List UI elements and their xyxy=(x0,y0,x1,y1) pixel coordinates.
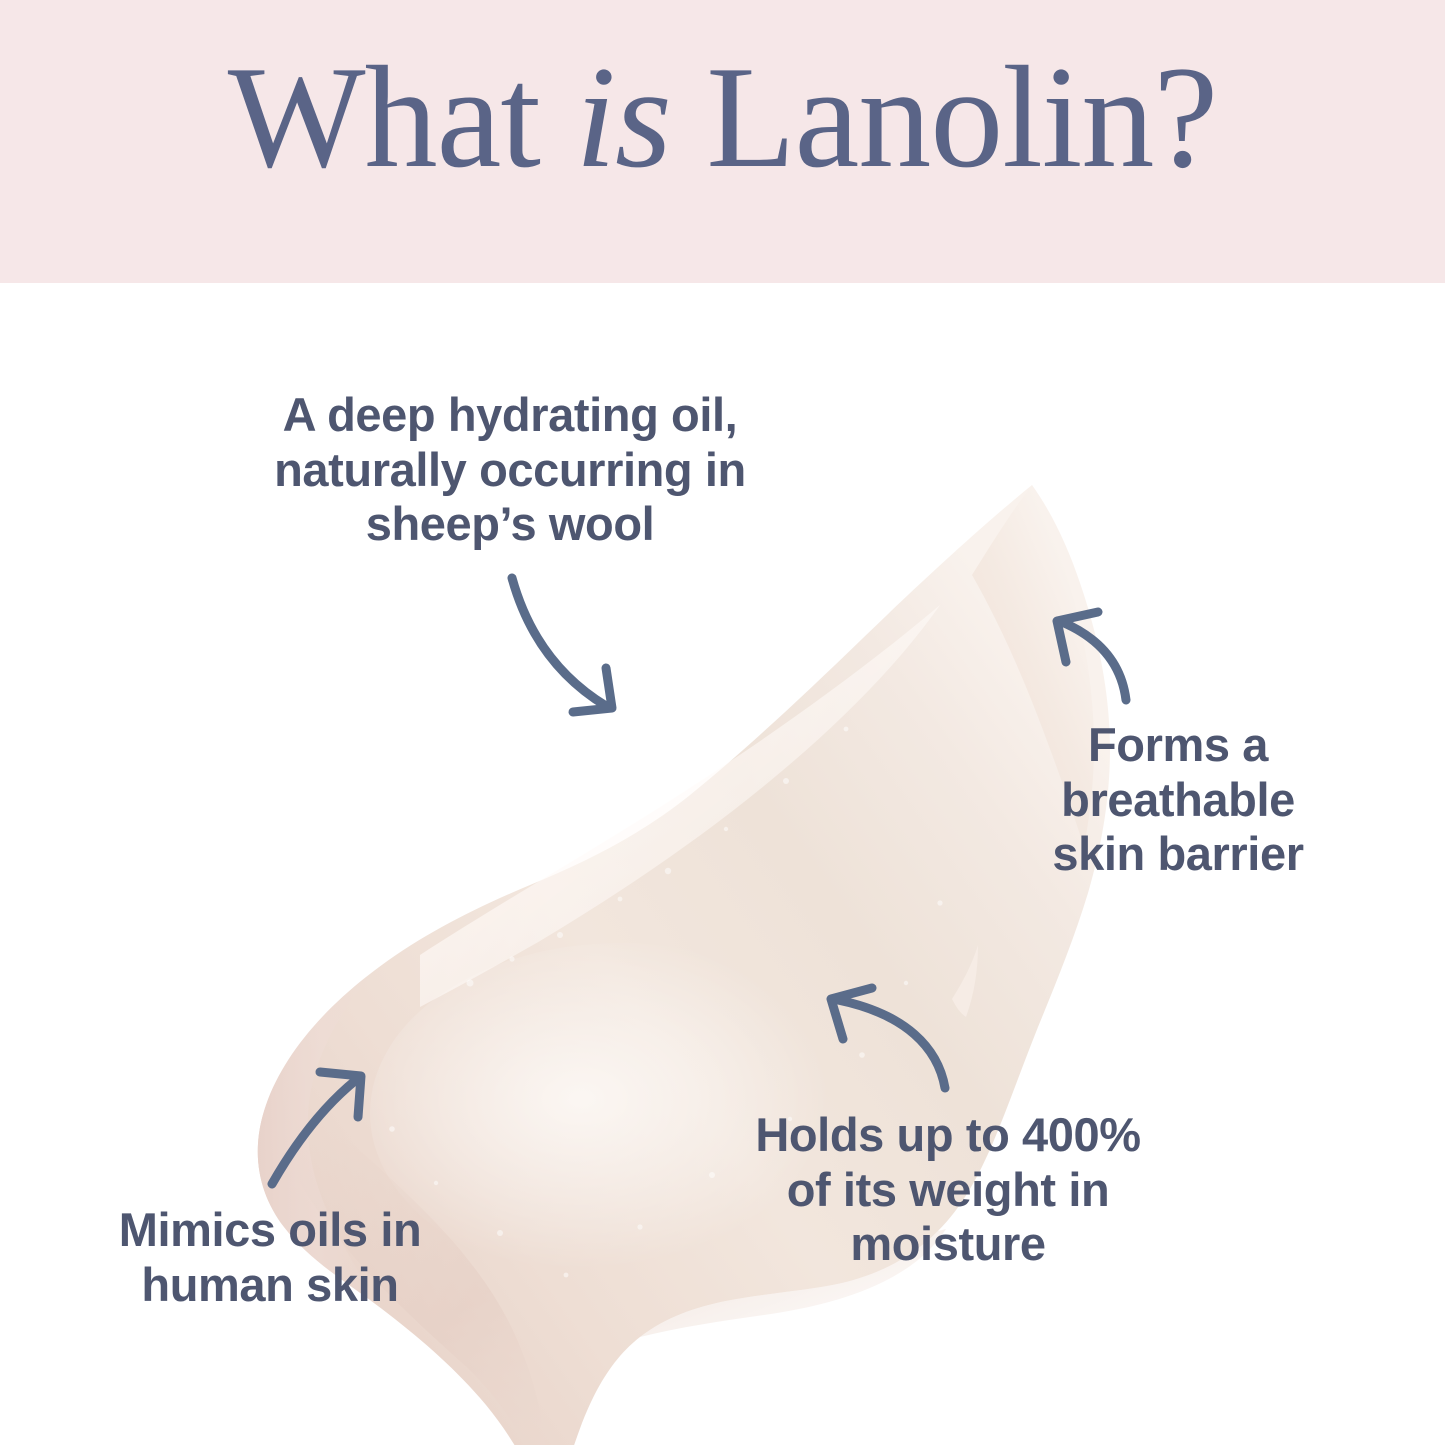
header-band: What is Lanolin? xyxy=(0,0,1445,283)
annotation-label-definition: A deep hydrating oil, naturally occurrin… xyxy=(180,388,840,552)
annotation-label-barrier: Forms a breathable skin barrier xyxy=(1018,718,1338,882)
page-title: What is Lanolin? xyxy=(0,44,1445,190)
infographic-canvas: What is Lanolin? xyxy=(0,0,1445,1445)
annotation-label-moisture: Holds up to 400% of its weight in moistu… xyxy=(693,1108,1203,1272)
annotation-label-mimics: Mimics oils in human skin xyxy=(60,1203,480,1312)
page-title-emphasis: is xyxy=(575,36,670,198)
page-title-prefix: What xyxy=(228,36,576,198)
page-title-suffix: Lanolin? xyxy=(671,36,1217,198)
